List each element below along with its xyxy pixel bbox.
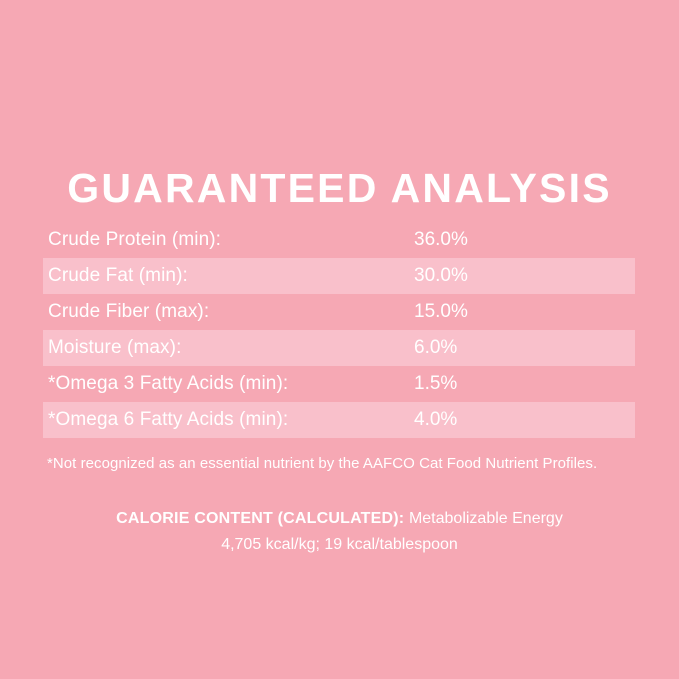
nutrient-value: 30.0%: [414, 265, 468, 287]
table-row: *Omega 3 Fatty Acids (min): 1.5%: [43, 366, 635, 402]
nutrient-label: Crude Fat (min):: [48, 265, 188, 287]
guaranteed-analysis-table: Crude Protein (min): 36.0% Crude Fat (mi…: [43, 222, 635, 438]
nutrient-value: 36.0%: [414, 229, 468, 251]
table-row: Crude Protein (min): 36.0%: [43, 222, 635, 258]
page-title: GUARANTEED ANALYSIS: [0, 166, 679, 210]
guaranteed-analysis-panel: GUARANTEED ANALYSIS Crude Protein (min):…: [0, 0, 679, 679]
nutrient-label: Moisture (max):: [48, 337, 181, 359]
table-row: Crude Fiber (max): 15.0%: [43, 294, 635, 330]
table-row: Moisture (max): 6.0%: [43, 330, 635, 366]
nutrient-label: *Omega 6 Fatty Acids (min):: [48, 409, 288, 431]
nutrient-value: 15.0%: [414, 301, 468, 323]
nutrient-value: 4.0%: [414, 409, 457, 431]
nutrient-label: *Omega 3 Fatty Acids (min):: [48, 373, 288, 395]
nutrient-label: Crude Protein (min):: [48, 229, 221, 251]
calorie-content-block: CALORIE CONTENT (CALCULATED): Metaboliza…: [0, 506, 679, 558]
calorie-content-value: Metabolizable Energy: [409, 510, 563, 527]
calorie-content-detail: 4,705 kcal/kg; 19 kcal/tablespoon: [0, 532, 679, 558]
footnote-text: *Not recognized as an essential nutrient…: [47, 455, 597, 472]
calorie-content-label: CALORIE CONTENT (CALCULATED):: [116, 510, 409, 527]
table-row: *Omega 6 Fatty Acids (min): 4.0%: [43, 402, 635, 438]
nutrient-value: 1.5%: [414, 373, 457, 395]
nutrient-value: 6.0%: [414, 337, 457, 359]
table-row: Crude Fat (min): 30.0%: [43, 258, 635, 294]
nutrient-label: Crude Fiber (max):: [48, 301, 209, 323]
